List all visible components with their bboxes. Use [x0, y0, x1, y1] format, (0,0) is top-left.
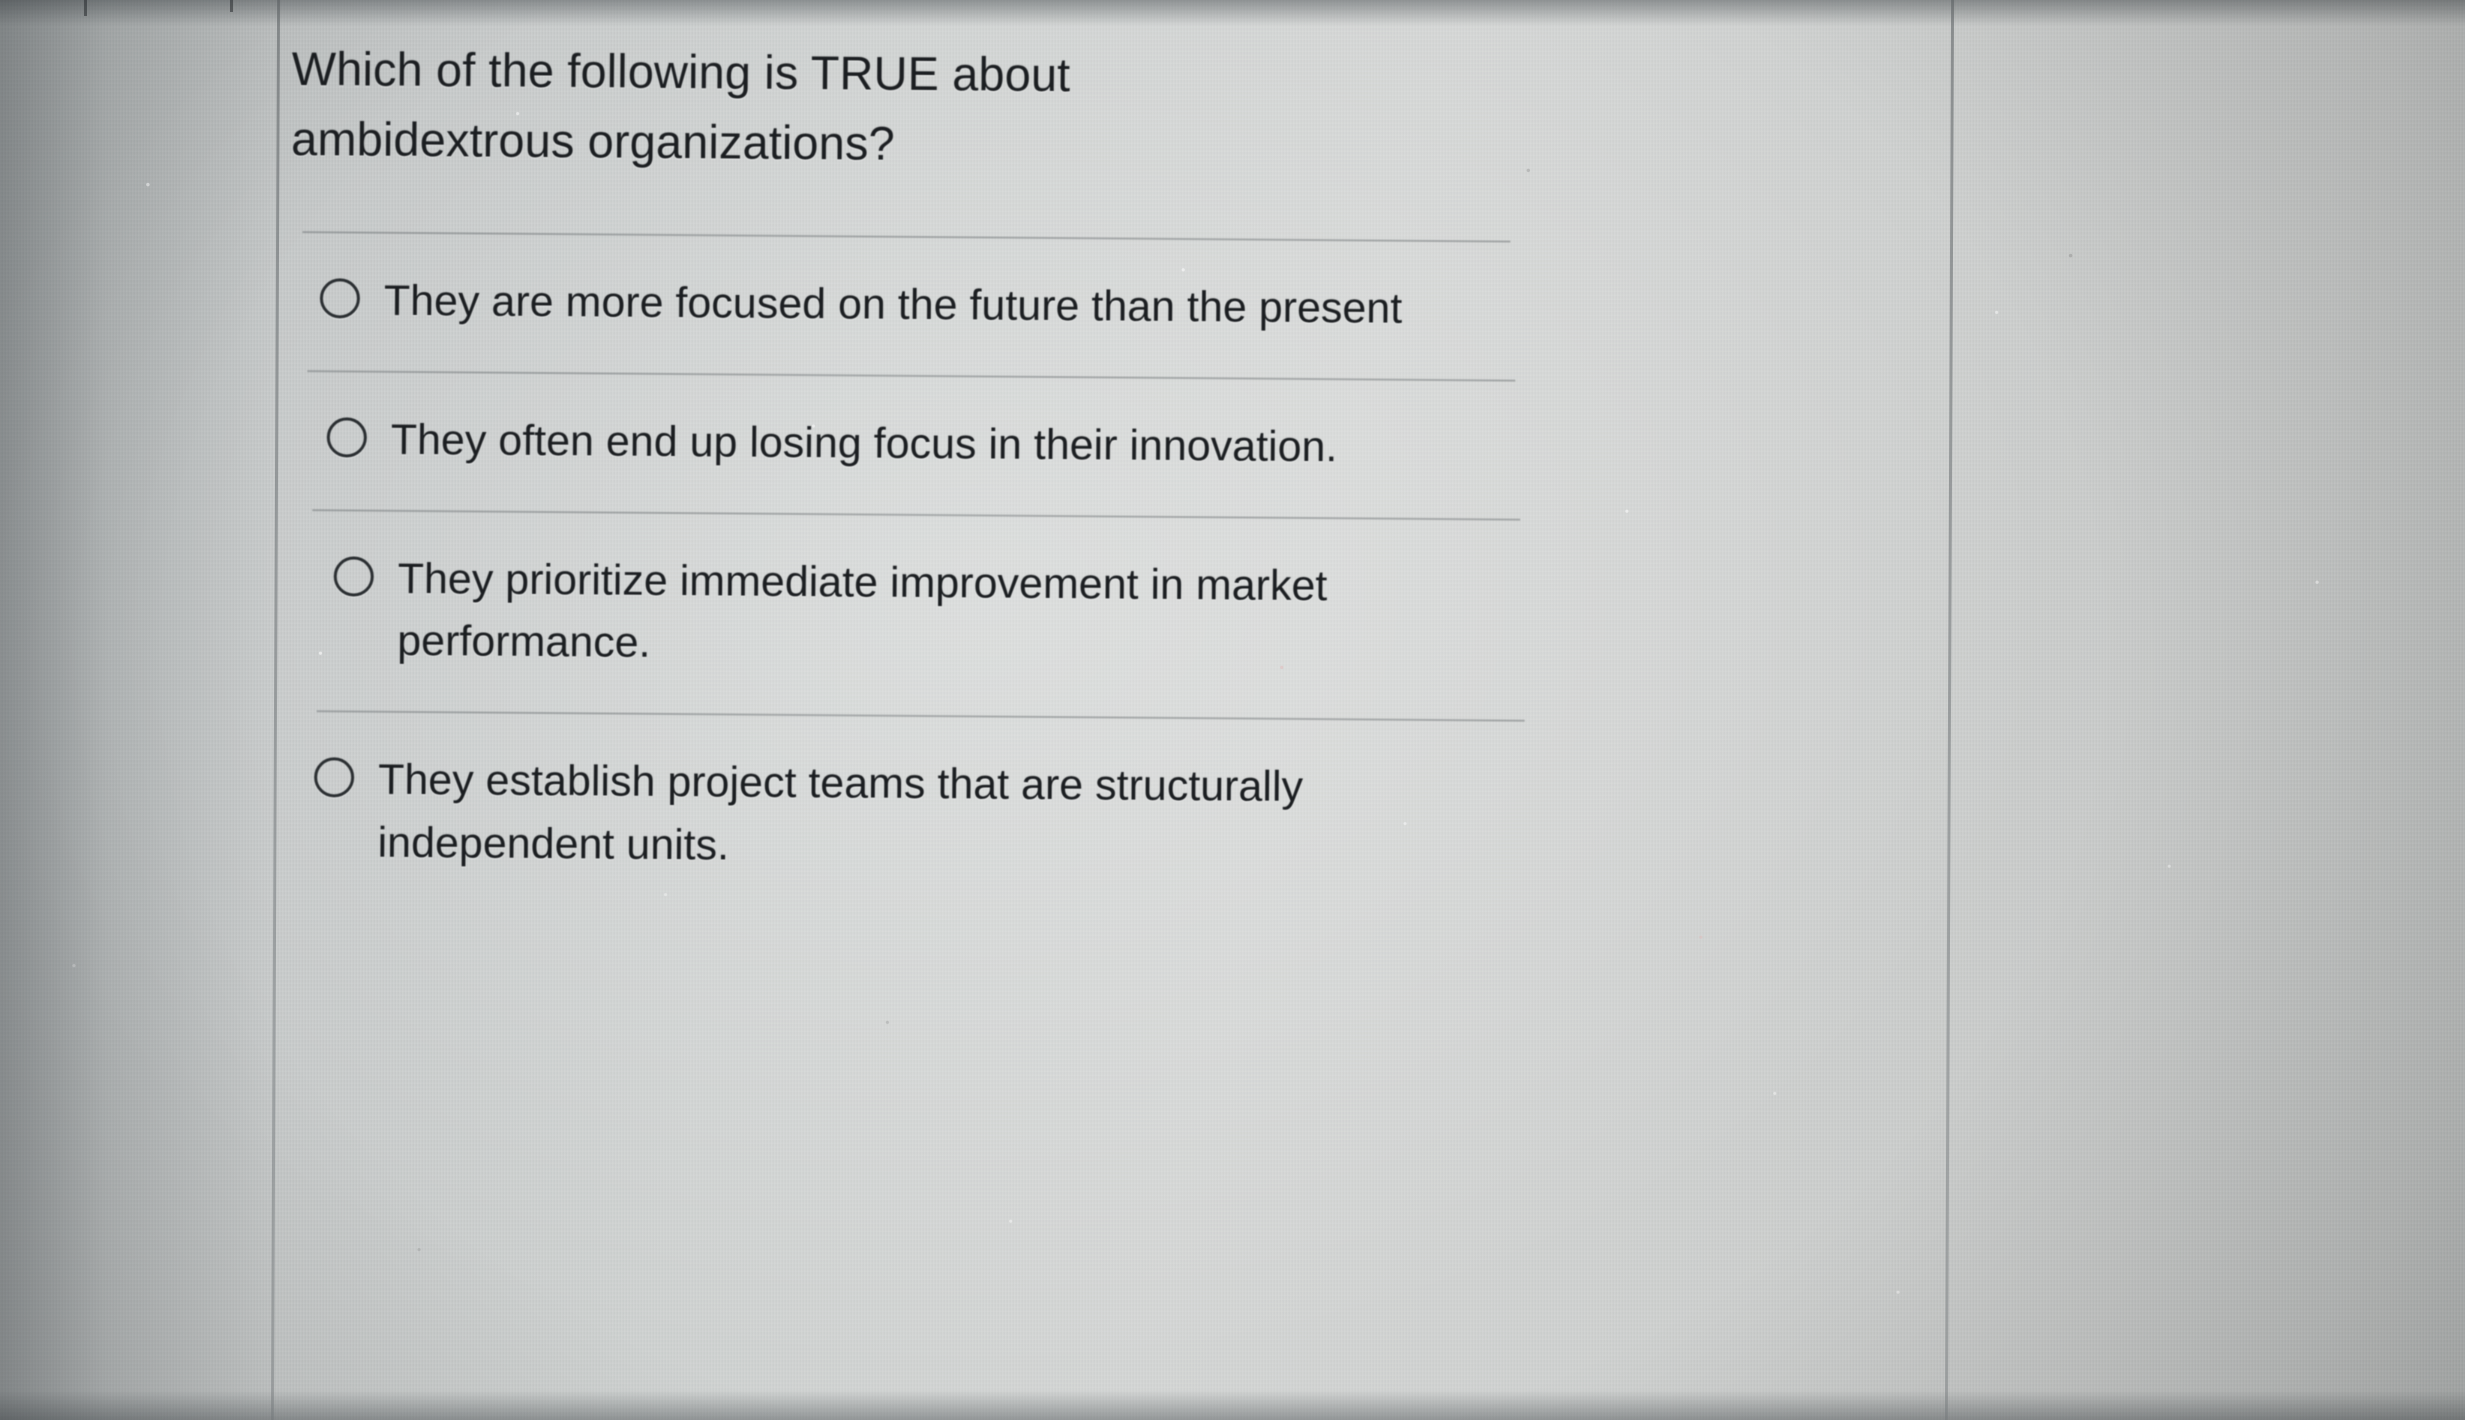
answer-option-d[interactable]: They establish project teams that are st… — [285, 712, 1907, 924]
radio-unchecked-icon[interactable] — [314, 757, 354, 797]
answer-option-c-label: They prioritize immediate improvement in… — [397, 547, 1488, 681]
radio-unchecked-icon[interactable] — [320, 278, 360, 318]
answer-option-c[interactable]: They prioritize immediate improvement in… — [287, 511, 1909, 723]
radio-unchecked-icon[interactable] — [327, 417, 367, 457]
left-edge-shadow — [0, 0, 280, 1420]
answer-option-d-label: They establish project teams that are st… — [377, 749, 1468, 883]
answer-option-b-label: They often end up losing focus in their … — [391, 409, 1338, 479]
answer-option-a[interactable]: They are more focused on the future than… — [289, 233, 1910, 382]
radio-unchecked-icon[interactable] — [334, 556, 374, 596]
content-panel-left-rule — [271, 0, 280, 1420]
question-text: Which of the following is TRUE about amb… — [291, 34, 1292, 181]
bottom-edge-shadow — [0, 1390, 2465, 1420]
corner-tick-mark-left — [84, 0, 87, 16]
corner-tick-mark-right — [230, 0, 233, 12]
content-panel-right-rule — [1945, 0, 1954, 1420]
answer-option-a-label: They are more focused on the future than… — [384, 270, 1403, 341]
photographed-screen: Which of the following is TRUE about amb… — [0, 0, 2465, 1420]
question-card: Which of the following is TRUE about amb… — [285, 34, 1912, 924]
top-edge-shadow — [0, 0, 2465, 26]
answer-option-b[interactable]: They often end up losing focus in their … — [288, 372, 1909, 521]
